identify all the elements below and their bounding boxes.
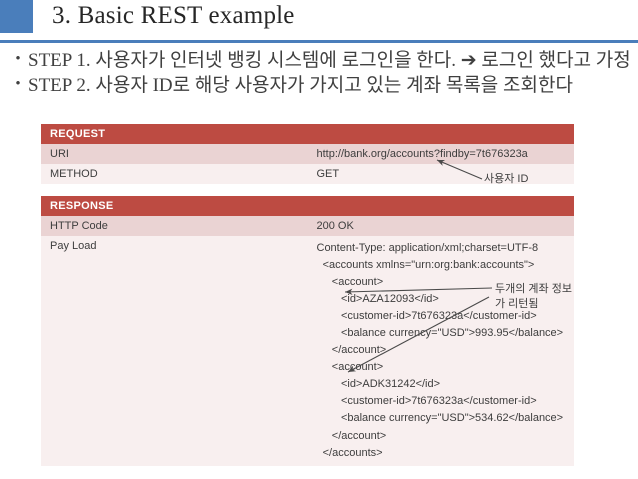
table-row-payload: Pay Load Content-Type: application/xml;c… [41, 236, 574, 466]
response-table: RESPONSE HTTP Code 200 OK Pay Load Conte… [41, 196, 574, 466]
list-item: • STEP 2. 사용자 ID로 해당 사용자가 가지고 있는 계좌 목록을 … [8, 73, 633, 98]
table-header-row: REQUEST [41, 124, 574, 144]
table-cell-key: HTTP Code [41, 216, 308, 236]
table-cell-key: Pay Load [41, 236, 308, 466]
table-cell-value: http://bank.org/accounts?findby=7t676323… [308, 144, 575, 164]
annotation-user-id-label: 사용자 ID [484, 172, 528, 187]
annotation-accounts-returned-label: 두개의 계좌 정보 가 리턴됨 [495, 282, 572, 312]
table-cell-key: METHOD [41, 164, 308, 184]
payload-xml-body: Content-Type: application/xml;charset=UT… [308, 236, 575, 466]
bullet-dot-icon: • [8, 48, 28, 71]
table-cell-value: GET [308, 164, 575, 184]
table-row: HTTP Code 200 OK [41, 216, 574, 236]
bullet-list: • STEP 1. 사용자가 인터넷 뱅킹 시스템에 로그인을 한다. ➔ 로그… [8, 48, 633, 99]
table-row: URI http://bank.org/accounts?findby=7t67… [41, 144, 574, 164]
title-accent-square [0, 0, 33, 33]
response-table-header-label: RESPONSE [41, 196, 574, 216]
table-header-row: RESPONSE [41, 196, 574, 216]
table-cell-value: 200 OK [308, 216, 575, 236]
slide-header: 3. Basic REST example [0, 0, 638, 45]
request-table-header-label: REQUEST [41, 124, 574, 144]
bullet-dot-icon: • [8, 73, 28, 96]
list-item-label: STEP 2. 사용자 ID로 해당 사용자가 가지고 있는 계좌 목록을 조회… [28, 73, 633, 98]
page-title: 3. Basic REST example [52, 2, 295, 30]
table-cell-key: URI [41, 144, 308, 164]
list-item-label: STEP 1. 사용자가 인터넷 뱅킹 시스템에 로그인을 한다. ➔ 로그인 … [28, 48, 633, 73]
list-item: • STEP 1. 사용자가 인터넷 뱅킹 시스템에 로그인을 한다. ➔ 로그… [8, 48, 633, 73]
title-divider-rule [0, 40, 638, 43]
